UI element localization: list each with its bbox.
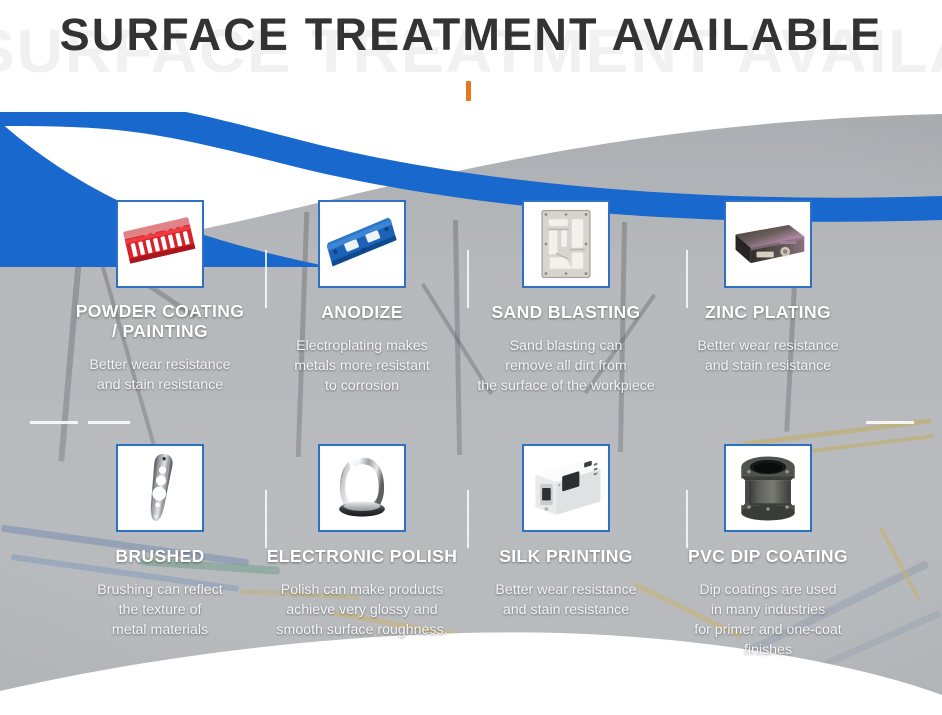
treatment-card-pvc-dip-coating[interactable]: PVC DIP COATING Dip coatings are used in… [664,444,872,660]
pvc-dip-coating-thumbnail[interactable] [724,444,812,532]
zinc-plating-thumbnail[interactable] [724,200,812,288]
card-description: Dip coatings are used in many industries… [664,580,872,661]
card-separator-vertical [265,250,267,308]
treatment-card-zinc-plating[interactable]: ZINC PLATING Better wear resistance and … [664,200,872,376]
row-separator-dash [88,421,130,424]
card-title: SILK PRINTING [462,546,670,567]
silk-printing-thumbnail[interactable] [522,444,610,532]
treatment-card-silk-printing[interactable]: SILK PRINTING Better wear resistance and… [462,444,670,620]
treatment-card-electronic-polish[interactable]: ELECTRONIC POLISH Polish can make produc… [258,444,466,640]
card-separator-vertical [467,490,469,548]
page-title: SURFACE TREATMENT AVAILABLE [0,9,942,61]
card-title: ANODIZE [258,302,466,323]
treatment-card-brushed[interactable]: BRUSHED Brushing can reflect the texture… [56,444,264,640]
electronic-polish-thumbnail[interactable] [318,444,406,532]
sand-blasting-thumbnail[interactable] [522,200,610,288]
card-separator-vertical [686,490,688,548]
treatment-card-sand-blasting[interactable]: SAND BLASTING Sand blasting can remove a… [462,200,670,396]
polished-chrome-ring-icon [320,446,404,530]
card-description: Better wear resistance and stain resista… [664,336,872,376]
card-description: Better wear resistance and stain resista… [56,355,264,395]
treatment-card-powder-coating-painting[interactable]: POWDER COATING / PAINTING Better wear re… [56,200,264,395]
card-title: SAND BLASTING [462,302,670,323]
brushed-thumbnail[interactable] [116,444,204,532]
card-title: BRUSHED [56,546,264,567]
header: SURFACE TREATMENT AVAILABLE SURFACE TREA… [0,0,942,112]
row-separator-dash [866,421,914,424]
blue-anodized-bracket-icon [320,202,404,286]
card-description: Polish can make products achieve very gl… [258,580,466,640]
card-title: POWDER COATING / PAINTING [56,302,264,342]
card-title: PVC DIP COATING [664,546,872,567]
brushed-metal-lever-icon [118,446,202,530]
powder-coating-thumbnail[interactable] [116,200,204,288]
card-description: Sand blasting can remove all dirt from t… [450,336,682,396]
card-description: Brushing can reflect the texture of meta… [56,580,264,640]
red-powder-coated-grate-icon [118,202,202,286]
card-separator-vertical [686,250,688,308]
card-description: Electroplating makes metals more resista… [253,336,471,396]
row-separator-dash [30,421,78,424]
card-separator-vertical [265,490,267,548]
treatment-card-anodize[interactable]: ANODIZE Electroplating makes metals more… [258,200,466,396]
sandblasted-aluminum-plate-icon [524,202,608,286]
pvc-dipped-flange-icon [726,446,810,530]
card-title: ZINC PLATING [664,302,872,323]
card-description: Better wear resistance and stain resista… [450,580,682,620]
anodize-thumbnail[interactable] [318,200,406,288]
treatment-card-grid: POWDER COATING / PAINTING Better wear re… [0,92,942,715]
silk-printed-chassis-icon [524,446,608,530]
zinc-plated-enclosure-icon [726,202,810,286]
title-accent-bar [466,81,471,101]
surface-treatment-infographic: SURFACE TREATMENT AVAILABLE SURFACE TREA… [0,0,942,715]
card-title: ELECTRONIC POLISH [258,546,466,567]
card-separator-vertical [467,250,469,308]
